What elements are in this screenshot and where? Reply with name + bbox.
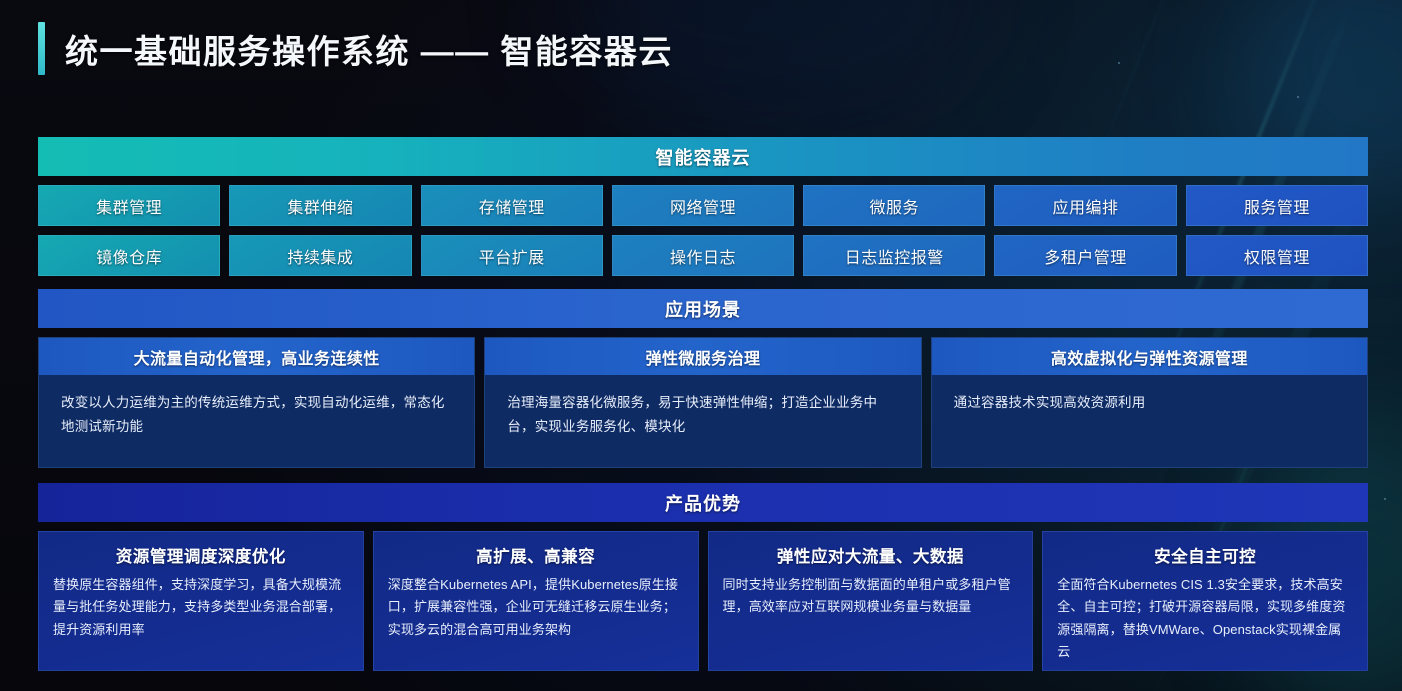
feature-cell-platform-extension[interactable]: 平台扩展 xyxy=(421,235,603,276)
title-accent-bar xyxy=(38,22,45,75)
section-header-scenarios: 应用场景 xyxy=(38,289,1368,328)
page-title: 统一基础服务操作系统 —— 智能容器云 xyxy=(65,25,673,73)
background-dot xyxy=(1384,498,1386,500)
feature-grid-row-2: 镜像仓库 持续集成 平台扩展 操作日志 日志监控报警 多租户管理 权限管理 xyxy=(38,235,1368,276)
advantage-card-title: 资源管理调度深度优化 xyxy=(53,543,349,567)
advantage-card-grid: 资源管理调度深度优化 替换原生容器组件，支持深度学习，具备大规模流量与批任务处理… xyxy=(38,531,1368,671)
background-dot xyxy=(1118,62,1120,64)
feature-cell-multi-tenant-management[interactable]: 多租户管理 xyxy=(994,235,1176,276)
scenario-card-title: 弹性微服务治理 xyxy=(485,338,920,375)
feature-cell-microservices[interactable]: 微服务 xyxy=(803,185,985,226)
advantage-card-body: 替换原生容器组件，支持深度学习，具备大规模流量与批任务处理能力，支持多类型业务混… xyxy=(53,574,349,641)
advantages-section: 产品优势 资源管理调度深度优化 替换原生容器组件，支持深度学习，具备大规模流量与… xyxy=(38,483,1368,671)
scenario-card-elastic-microservice[interactable]: 弹性微服务治理 治理海量容器化微服务，易于快速弹性伸缩；打造企业业务中台，实现业… xyxy=(484,337,921,468)
scenario-card-body: 治理海量容器化微服务，易于快速弹性伸缩；打造企业业务中台，实现业务服务化、模块化 xyxy=(485,375,920,467)
scenario-card-virtualization-resource[interactable]: 高效虚拟化与弹性资源管理 通过容器技术实现高效资源利用 xyxy=(931,337,1368,468)
feature-cell-continuous-integration[interactable]: 持续集成 xyxy=(229,235,411,276)
scenario-card-body: 通过容器技术实现高效资源利用 xyxy=(932,375,1367,467)
feature-cell-permission-management[interactable]: 权限管理 xyxy=(1186,235,1368,276)
advantage-card-title: 弹性应对大流量、大数据 xyxy=(723,543,1019,567)
advantage-card-body: 全面符合Kubernetes CIS 1.3安全要求，技术高安全、自主可控；打破… xyxy=(1057,574,1353,663)
scenarios-section: 应用场景 大流量自动化管理，高业务连续性 改变以人力运维为主的传统运维方式，实现… xyxy=(38,289,1368,468)
feature-cell-storage-management[interactable]: 存储管理 xyxy=(421,185,603,226)
advantage-card-title: 高扩展、高兼容 xyxy=(388,543,684,567)
feature-cell-cluster-scaling[interactable]: 集群伸缩 xyxy=(229,185,411,226)
scenario-card-title: 高效虚拟化与弹性资源管理 xyxy=(932,338,1367,375)
advantage-card-body: 深度整合Kubernetes API，提供Kubernetes原生接口，扩展兼容… xyxy=(388,574,684,641)
feature-cell-cluster-management[interactable]: 集群管理 xyxy=(38,185,220,226)
feature-cell-application-orchestration[interactable]: 应用编排 xyxy=(994,185,1176,226)
advantage-card-elastic-bigdata[interactable]: 弹性应对大流量、大数据 同时支持业务控制面与数据面的单租户或多租户管理，高效率应… xyxy=(708,531,1034,671)
feature-cell-service-management[interactable]: 服务管理 xyxy=(1186,185,1368,226)
feature-cell-operation-log[interactable]: 操作日志 xyxy=(612,235,794,276)
section-header-container-cloud: 智能容器云 xyxy=(38,137,1368,176)
advantage-card-resource-scheduling[interactable]: 资源管理调度深度优化 替换原生容器组件，支持深度学习，具备大规模流量与批任务处理… xyxy=(38,531,364,671)
scenario-card-traffic-automation[interactable]: 大流量自动化管理，高业务连续性 改变以人力运维为主的传统运维方式，实现自动化运维… xyxy=(38,337,475,468)
scenario-card-body: 改变以人力运维为主的传统运维方式，实现自动化运维，常态化地测试新功能 xyxy=(39,375,474,467)
scenario-card-title: 大流量自动化管理，高业务连续性 xyxy=(39,338,474,375)
feature-cell-log-monitoring-alert[interactable]: 日志监控报警 xyxy=(803,235,985,276)
background-dot xyxy=(1297,96,1299,98)
feature-cell-image-registry[interactable]: 镜像仓库 xyxy=(38,235,220,276)
page-header: 统一基础服务操作系统 —— 智能容器云 xyxy=(38,22,673,75)
advantage-card-title: 安全自主可控 xyxy=(1057,543,1353,567)
feature-grid-row-1: 集群管理 集群伸缩 存储管理 网络管理 微服务 应用编排 服务管理 xyxy=(38,185,1368,226)
scenario-card-grid: 大流量自动化管理，高业务连续性 改变以人力运维为主的传统运维方式，实现自动化运维… xyxy=(38,337,1368,468)
section-header-advantages: 产品优势 xyxy=(38,483,1368,522)
feature-cell-network-management[interactable]: 网络管理 xyxy=(612,185,794,226)
advantage-card-extensibility[interactable]: 高扩展、高兼容 深度整合Kubernetes API，提供Kubernetes原… xyxy=(373,531,699,671)
advantage-card-body: 同时支持业务控制面与数据面的单租户或多租户管理，高效率应对互联网规模业务量与数据… xyxy=(723,574,1019,619)
container-cloud-section: 智能容器云 集群管理 集群伸缩 存储管理 网络管理 微服务 应用编排 服务管理 … xyxy=(38,137,1368,276)
advantage-card-security-autonomy[interactable]: 安全自主可控 全面符合Kubernetes CIS 1.3安全要求，技术高安全、… xyxy=(1042,531,1368,671)
